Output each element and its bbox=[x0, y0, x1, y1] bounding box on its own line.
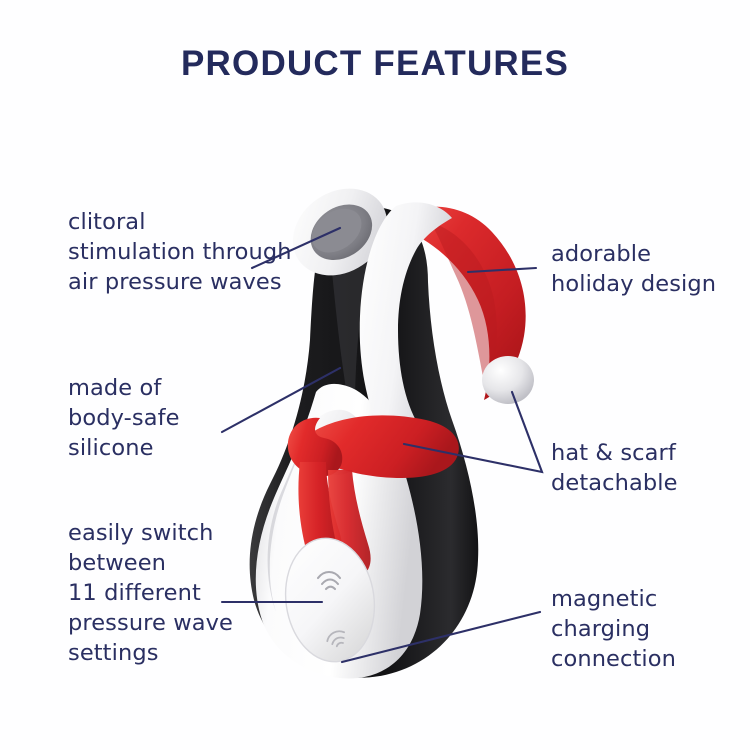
callout-clitoral-stimulation: clitoral stimulation through air pressur… bbox=[68, 207, 292, 297]
hat-pompom bbox=[482, 356, 534, 404]
infographic-canvas: PRODUCT FEATURES bbox=[0, 0, 750, 750]
callout-hat-scarf-detachable: hat & scarf detachable bbox=[551, 438, 678, 498]
callout-magnetic-charging: magnetic charging connection bbox=[551, 584, 676, 674]
callout-body-safe-silicone: made of body-safe silicone bbox=[68, 373, 180, 463]
callout-pressure-wave-settings: easily switch between 11 different press… bbox=[68, 518, 233, 668]
callout-holiday-design: adorable holiday design bbox=[551, 239, 716, 299]
